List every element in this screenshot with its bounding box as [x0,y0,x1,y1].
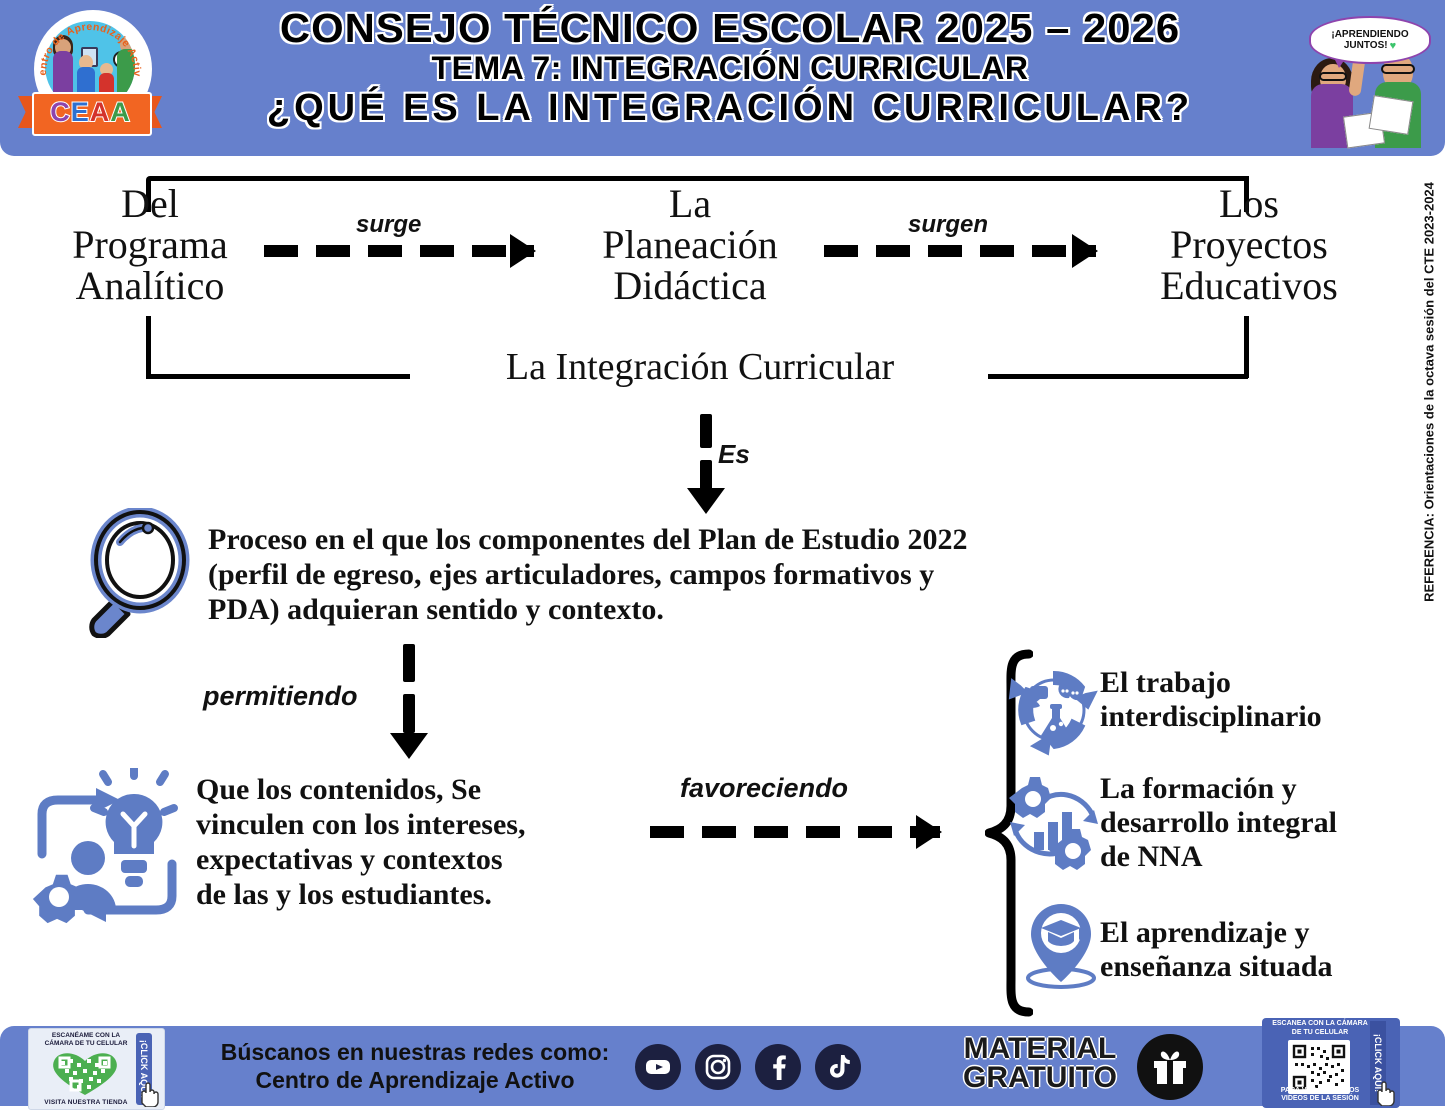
location-graduation-icon [1018,900,1104,990]
speech-bubble: ¡APRENDIENDO JUNTOS! ♥ [1309,16,1431,64]
edge-label-surgen: surgen [908,211,988,239]
title-line-1: CONSEJO TÉCNICO ESCOLAR 2025 – 2026 [189,6,1270,50]
benefit-1-line-1: El trabajo [1100,666,1440,700]
outcome-line-1: Que los contenidos, Se [196,772,628,807]
magnifier-icon [78,508,210,638]
node-programa-line-1: Del [20,184,280,225]
arrow-permitiendo [403,644,415,759]
store-badge-top: ESCANÉAME CON LA CÁMARA DE TU CELULAR [33,1032,139,1048]
bubble-line-1: ¡APRENDIENDO [1331,29,1408,40]
benefit-3-text: El aprendizaje y enseñanza situada [1100,916,1445,984]
page-title: CONSEJO TÉCNICO ESCOLAR 2025 – 2026 TEMA… [200,6,1260,130]
logo-letter-a1: A [90,97,110,128]
definition-line-3: PDA) adquieran sentido y contexto. [208,592,1198,627]
logo-letter-a2: A [110,97,130,128]
video-qr-badge[interactable]: ESCANEA CON LA CÁMARA DE TU CELULAR [1262,1018,1400,1108]
tiktok-icon[interactable] [815,1044,861,1090]
social-icons [635,1044,861,1090]
arrow-favoreciendo [650,826,940,838]
benefit-3-line-2: enseñanza situada [1100,950,1445,984]
page-header: Centro de Aprendizaje Activo C E A A CON… [0,0,1445,156]
title-line-2: TEMA 7: INTEGRACIÓN CURRICULAR [200,50,1260,86]
node-programa-line-2: Programa [20,225,280,266]
arrow-es [700,414,712,514]
benefit-2-line-1: La formación y [1100,772,1445,806]
logo-letters: C E A A [32,92,148,132]
outcome-text: Que los contenidos, Se vinculen con los … [196,772,628,912]
diagram-canvas: Del Programa Analítico surge La Planeaci… [0,156,1445,1016]
integration-label: La Integración Curricular [410,348,990,387]
bottom-bracket-left-bar [146,374,410,379]
bottom-bracket-right [1244,316,1249,378]
heart-icon: ♥ [1390,40,1397,52]
redes-line-2: Centro de Aprendizaje Activo [205,1066,625,1094]
node-proyectos-line-1: Los [1110,184,1388,225]
edge-label-favoreciendo: favoreciendo [680,773,848,804]
pointer-hand-icon-2 [1370,1080,1396,1106]
video-badge-bottom-line-2: VIDEOS DE LA SESIÓN [1266,1095,1374,1104]
gears-growth-icon [1006,774,1102,870]
title-line-3: ¿QUÉ ES LA INTEGRACIÓN CURRICULAR? [200,86,1260,130]
outcome-line-2: vinculen con los intereses, [196,807,628,842]
outcome-line-4: de las y los estudiantes. [196,877,628,912]
edge-label-permitiendo: permitiendo [203,681,358,712]
redes-line-1: Búscanos en nuestras redes como: [205,1038,625,1066]
youtube-icon[interactable] [635,1044,681,1090]
node-proyectos-educativos: Los Proyectos Educativos [1110,184,1388,306]
node-programa-line-3: Analítico [20,266,280,307]
logo-letter-c: C [50,97,70,128]
definition-text: Proceso en el que los componentes del Pl… [208,522,1198,627]
node-planeacion-didactica: La Planeación Didáctica [545,184,835,306]
node-programa-analitico: Del Programa Analítico [20,184,280,306]
video-badge-bottom-line-1: PARA VER TODOS LOS [1266,1087,1374,1096]
material-line-2: GRATUITO [955,1063,1125,1092]
heart-qr-icon [47,1049,123,1097]
outcome-line-3: expectativas y contextos [196,842,628,877]
definition-line-2: (perfil de egreso, ejes articuladores, c… [208,557,1198,592]
material-gratuito-label: MATERIAL GRATUITO [955,1034,1125,1093]
node-planeacion-line-1: La [545,184,835,225]
ceaa-logo: Centro de Aprendizaje Activo C E A A [14,8,164,148]
node-proyectos-line-3: Educativos [1110,266,1388,307]
idea-gear-person-icon [22,768,200,928]
benefit-1-text: El trabajo interdisciplinario [1100,666,1440,734]
gift-icon [1137,1034,1203,1100]
bubble-line-2: JUNTOS! [1344,40,1388,51]
video-badge-top-line-2: DE TU CELULAR [1266,1029,1374,1038]
logo-banner: C E A A [18,86,162,138]
store-badge-bottom: VISITA NUESTRA TIENDA [33,1099,139,1106]
video-badge-top: ESCANEA CON LA CÁMARA DE TU CELULAR [1266,1020,1374,1038]
instagram-icon[interactable] [695,1044,741,1090]
logo-letter-e: E [71,97,89,128]
store-badge-top-line-1: ESCANÉAME CON LA [33,1032,139,1040]
arrow-surge [264,245,534,257]
video-badge-top-line-1: ESCANEA CON LA CÁMARA [1266,1020,1374,1029]
interdisciplinary-cycle-icon [1008,664,1100,756]
bottom-bracket-left [146,316,151,378]
store-qr-badge[interactable]: ESCANÉAME CON LA CÁMARA DE TU CELULAR VI… [28,1028,165,1110]
pointer-hand-icon [134,1081,160,1107]
benefit-2-text: La formación y desarrollo integral de NN… [1100,772,1445,874]
video-badge-bottom: PARA VER TODOS LOS VIDEOS DE LA SESIÓN [1266,1087,1374,1105]
arrow-surgen [824,245,1096,257]
bottom-bracket-right-bar [988,374,1248,379]
svg-text:Centro de Aprendizaje Activo: Centro de Aprendizaje Activo [36,12,143,77]
definition-line-1: Proceso en el que los componentes del Pl… [208,522,1198,557]
node-planeacion-line-3: Didáctica [545,266,835,307]
facebook-icon[interactable] [755,1044,801,1090]
benefit-3-line-1: El aprendizaje y [1100,916,1445,950]
benefit-2-line-3: de NNA [1100,840,1445,874]
edge-label-surge: surge [356,211,421,239]
node-planeacion-line-2: Planeación [545,225,835,266]
teachers-illustration: ¡APRENDIENDO JUNTOS! ♥ [1287,6,1439,150]
material-line-1: MATERIAL [955,1034,1125,1063]
edge-label-es: Es [718,439,750,470]
benefit-2-line-2: desarrollo integral [1100,806,1445,840]
node-proyectos-line-2: Proyectos [1110,225,1388,266]
store-badge-top-line-2: CÁMARA DE TU CELULAR [33,1040,139,1048]
logo-arc-label: Centro de Aprendizaje Activo [36,12,143,77]
social-cta-text: Búscanos en nuestras redes como: Centro … [205,1038,625,1094]
benefit-1-line-2: interdisciplinario [1100,700,1440,734]
